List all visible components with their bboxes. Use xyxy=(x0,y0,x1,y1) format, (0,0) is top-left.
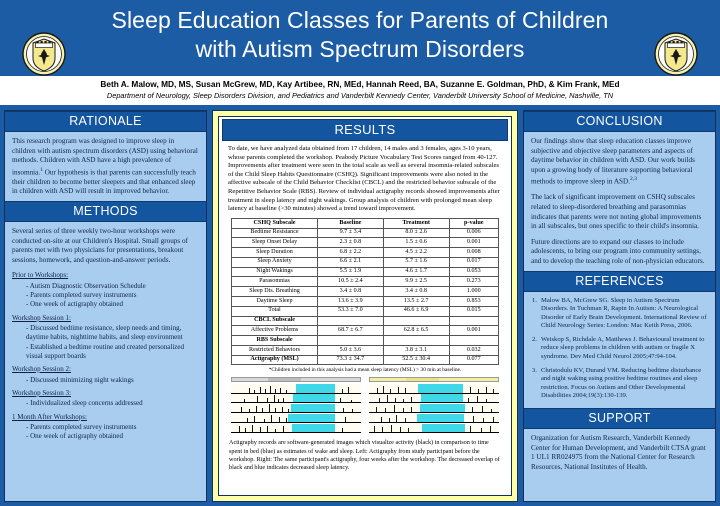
cell-baseline: 2.3 ± 0.8 xyxy=(318,238,384,248)
actigraph-scale-header xyxy=(369,377,499,382)
actigraph-scale-header xyxy=(231,377,361,382)
cell-baseline xyxy=(318,316,384,326)
table-row: Bedtime Resistance 9.7 ± 3.4 8.0 ± 2.6 0… xyxy=(232,228,499,238)
methods-intro: Several series of three weekly two-hour … xyxy=(12,227,199,265)
row-label: Affective Problems xyxy=(232,326,318,336)
reference-text: Malow BA, McGrew SG. Sleep in Autism Spe… xyxy=(541,297,707,330)
center-column: RESULTS To date, we have analyzed data o… xyxy=(212,110,518,502)
reference-number: 2. xyxy=(532,336,537,345)
references-body: 1. Malow BA, McGrew SG. Sleep in Autism … xyxy=(524,292,715,409)
list-item: - Autism Diagnostic Observation Schedule xyxy=(26,282,199,291)
right-column: CONCLUSION Our findings show that sleep … xyxy=(523,110,716,502)
table-row: Daytime Sleep 13.6 ± 3.9 13.5 ± 2.7 0.85… xyxy=(232,297,499,307)
section-header-results: RESULTS xyxy=(222,119,508,141)
reference-text: Christodulu KV, Durand VM. Reducing bedt… xyxy=(541,367,701,400)
list-item: - Discussed minimizing night wakings xyxy=(26,376,199,385)
actigraphy-after xyxy=(367,377,501,435)
row-label: Sleep Onset Delay xyxy=(232,238,318,248)
actigraph-trace xyxy=(231,404,361,413)
reference-number: 1. xyxy=(532,297,537,306)
row-label: Sleep Dis. Breathing xyxy=(232,287,318,297)
rationale-body: This research program was designed to im… xyxy=(5,132,206,201)
table-row: Affective Problems 68.7 ± 6.7 62.8 ± 6.5… xyxy=(232,326,499,336)
actigraph-trace xyxy=(369,414,499,423)
column-header: Baseline xyxy=(318,218,384,228)
reference-entry: 2. Weiskop S, Richdale A, Matthews J. Be… xyxy=(532,336,707,362)
cell-baseline xyxy=(318,336,384,346)
cell-baseline: 13.6 ± 3.9 xyxy=(318,297,384,307)
methods-group-heading: Workshop Session 1: xyxy=(12,314,199,324)
cell-pvalue: 0.032 xyxy=(449,345,498,355)
poster-root: Sleep Education Classes for Parents of C… xyxy=(0,0,720,506)
results-panel: RESULTS To date, we have analyzed data o… xyxy=(218,116,512,496)
row-label: RBS Subscale xyxy=(232,336,318,346)
cell-pvalue: 0.273 xyxy=(449,277,498,287)
cell-pvalue: 1.000 xyxy=(449,287,498,297)
list-item: - Discussed bedtime resistance, sleep ne… xyxy=(26,324,199,342)
row-label: CBCL Subscale xyxy=(232,316,318,326)
list-item: - One week of actigraphy obtained xyxy=(26,432,199,441)
cell-treatment: 4.6 ± 1.7 xyxy=(383,267,449,277)
table-row: Sleep Dis. Breathing 3.4 ± 0.8 3.4 ± 0.8… xyxy=(232,287,499,297)
cell-treatment: 9.9 ± 2.5 xyxy=(383,277,449,287)
actigraphy-figures xyxy=(219,377,511,435)
author-banner: Beth A. Malow, MD, MS, Susan McGrew, MD,… xyxy=(0,76,720,105)
list-item: - Individualized sleep concerns addresse… xyxy=(26,399,199,408)
methods-group-list: - Discussed bedtime resistance, sleep ne… xyxy=(26,324,199,361)
methods-group-heading: Prior to Workshops: xyxy=(12,271,199,281)
methods-group-heading: 1 Month After Workshops: xyxy=(12,413,199,423)
methods-body: Several series of three weekly two-hour … xyxy=(5,222,206,446)
methods-group-list: - Individualized sleep concerns addresse… xyxy=(26,399,199,408)
actigraph-trace xyxy=(231,414,361,423)
section-header-support: SUPPORT xyxy=(524,408,715,429)
conclusion-citation: 2,3 xyxy=(630,176,637,182)
actigraph-trace xyxy=(369,394,499,403)
actigraph-trace xyxy=(369,424,499,433)
conclusion-paragraph-3: Future directions are to expand our clas… xyxy=(531,238,708,267)
conclusion-paragraph-1: Our findings show that sleep education c… xyxy=(531,137,695,186)
conclusion-paragraph-2: The lack of significant improvement on C… xyxy=(531,193,708,231)
actigraph-trace xyxy=(231,394,361,403)
list-item: - Established a bedtime routine and crea… xyxy=(26,343,199,361)
reference-text: Weiskop S, Richdale A, Matthews J. Behav… xyxy=(541,336,704,360)
section-header-references: REFERENCES xyxy=(524,271,715,292)
row-label: Bedtime Resistance xyxy=(232,228,318,238)
methods-group-list: - Autism Diagnostic Observation Schedule… xyxy=(26,282,199,310)
row-label: Night Wakings xyxy=(232,267,318,277)
cell-pvalue: 0.001 xyxy=(449,238,498,248)
table-row: Sleep Duration 6.8 ± 2.2 4.5 ± 2.2 0.008 xyxy=(232,248,499,258)
title-line-1: Sleep Education Classes for Parents of C… xyxy=(110,6,610,35)
cell-baseline: 6.6 ± 2.1 xyxy=(318,257,384,267)
cell-treatment: 5.7 ± 1.6 xyxy=(383,257,449,267)
table-row: Night Wakings 5.5 ± 1.9 4.6 ± 1.7 0.053 xyxy=(232,267,499,277)
cell-pvalue: 0.077 xyxy=(449,355,498,365)
cell-pvalue: 0.001 xyxy=(449,326,498,336)
results-intro: To date, we have analyzed data obtained … xyxy=(219,141,511,217)
actigraphy-caption: Actigraphy records are software-generate… xyxy=(219,435,511,472)
list-item: - Parents completed survey instruments xyxy=(26,291,199,300)
cell-baseline: 53.3 ± 7.0 xyxy=(318,306,384,316)
support-text: Organization for Autism Research, Vander… xyxy=(531,434,708,472)
cell-treatment: 3.4 ± 0.8 xyxy=(383,287,449,297)
table-row: Restricted Behaviors 5.0 ± 3.6 3.8 ± 3.1… xyxy=(232,345,499,355)
column-header: Treatment xyxy=(383,218,449,228)
left-column: RATIONALE This research program was desi… xyxy=(4,110,207,502)
cell-baseline: 10.5 ± 2.4 xyxy=(318,277,384,287)
list-item: - One week of actigraphy obtained xyxy=(26,300,199,309)
page-title: Sleep Education Classes for Parents of C… xyxy=(110,6,610,64)
cell-baseline: 6.8 ± 2.2 xyxy=(318,248,384,258)
cell-treatment: 46.6 ± 6.9 xyxy=(383,306,449,316)
actigraph-trace xyxy=(369,384,499,393)
cell-baseline: 3.4 ± 0.8 xyxy=(318,287,384,297)
cell-pvalue: 0.006 xyxy=(449,228,498,238)
row-label: Sleep Duration xyxy=(232,248,318,258)
cell-baseline: 5.0 ± 3.6 xyxy=(318,345,384,355)
vanderbilt-logo-right xyxy=(654,32,698,76)
author-list: Beth A. Malow, MD, MS, Susan McGrew, MD,… xyxy=(0,78,720,90)
vanderbilt-logo-left xyxy=(22,32,66,76)
row-label: Parasomnias xyxy=(232,277,318,287)
cell-treatment: 62.8 ± 6.5 xyxy=(383,326,449,336)
methods-group-list: - Parents completed survey instruments -… xyxy=(26,423,199,441)
cell-treatment xyxy=(383,336,449,346)
cell-pvalue xyxy=(449,316,498,326)
table-section-row: RBS Subscale xyxy=(232,336,499,346)
table-row: Sleep Onset Delay 2.3 ± 0.8 1.5 ± 0.6 0.… xyxy=(232,238,499,248)
title-banner: Sleep Education Classes for Parents of C… xyxy=(0,0,720,76)
row-label: Total xyxy=(232,306,318,316)
table-row: Total 53.3 ± 7.0 46.6 ± 6.9 0.015 xyxy=(232,306,499,316)
cell-treatment: 3.8 ± 3.1 xyxy=(383,345,449,355)
cell-pvalue: 0.008 xyxy=(449,248,498,258)
methods-group-list: - Discussed minimizing night wakings xyxy=(26,376,199,385)
methods-group-heading: Workshop Session 3: xyxy=(12,389,199,399)
actigraph-trace xyxy=(369,404,499,413)
table-row: Sleep Anxiety 6.6 ± 2.1 5.7 ± 1.6 0.017 xyxy=(232,257,499,267)
section-header-methods: METHODS xyxy=(5,201,206,222)
actigraphy-before xyxy=(229,377,363,435)
cell-pvalue: 0.853 xyxy=(449,297,498,307)
table-section-row: CBCL Subscale xyxy=(232,316,499,326)
cell-baseline: 9.7 ± 3.4 xyxy=(318,228,384,238)
cell-treatment: 8.0 ± 2.6 xyxy=(383,228,449,238)
column-header: CSHQ Subscale xyxy=(232,218,318,228)
reference-number: 3. xyxy=(532,367,537,376)
conclusion-body: Our findings show that sleep education c… xyxy=(524,132,715,271)
methods-group-heading: Workshop Session 2: xyxy=(12,365,199,375)
cell-baseline: 5.5 ± 1.9 xyxy=(318,267,384,277)
affiliation-line: Department of Neurology, Sleep Disorders… xyxy=(0,90,720,102)
section-header-conclusion: CONCLUSION xyxy=(524,111,715,132)
table-row: Actigraphy (MSL) 73.3 ± 34.7 52.5 ± 30.4… xyxy=(232,355,499,365)
table-header-row: CSHQ Subscale Baseline Treatment p-value xyxy=(232,218,499,228)
support-body: Organization for Autism Research, Vander… xyxy=(524,429,715,476)
row-label: Actigraphy (MSL) xyxy=(232,355,318,365)
row-label: Sleep Anxiety xyxy=(232,257,318,267)
cell-treatment: 4.5 ± 2.2 xyxy=(383,248,449,258)
cell-treatment: 52.5 ± 30.4 xyxy=(383,355,449,365)
table-footnote: *Children included in this analysis had … xyxy=(219,365,511,376)
section-header-rationale: RATIONALE xyxy=(5,111,206,132)
actigraph-trace xyxy=(231,424,361,433)
row-label: Restricted Behaviors xyxy=(232,345,318,355)
row-label: Daytime Sleep xyxy=(232,297,318,307)
cell-baseline: 68.7 ± 6.7 xyxy=(318,326,384,336)
cell-treatment xyxy=(383,316,449,326)
title-line-2: with Autism Spectrum Disorders xyxy=(110,35,610,64)
cell-pvalue xyxy=(449,336,498,346)
reference-entry: 1. Malow BA, McGrew SG. Sleep in Autism … xyxy=(532,297,707,331)
table-row: Parasomnias 10.5 ± 2.4 9.9 ± 2.5 0.273 xyxy=(232,277,499,287)
reference-entry: 3. Christodulu KV, Durand VM. Reducing b… xyxy=(532,367,707,401)
list-item: - Parents completed survey instruments xyxy=(26,423,199,432)
cell-pvalue: 0.015 xyxy=(449,306,498,316)
results-table: CSHQ Subscale Baseline Treatment p-value… xyxy=(231,218,499,366)
actigraph-trace xyxy=(231,384,361,393)
cell-treatment: 13.5 ± 2.7 xyxy=(383,297,449,307)
cell-treatment: 1.5 ± 0.6 xyxy=(383,238,449,248)
cell-pvalue: 0.053 xyxy=(449,267,498,277)
cell-pvalue: 0.017 xyxy=(449,257,498,267)
column-header: p-value xyxy=(449,218,498,228)
cell-baseline: 73.3 ± 34.7 xyxy=(318,355,384,365)
